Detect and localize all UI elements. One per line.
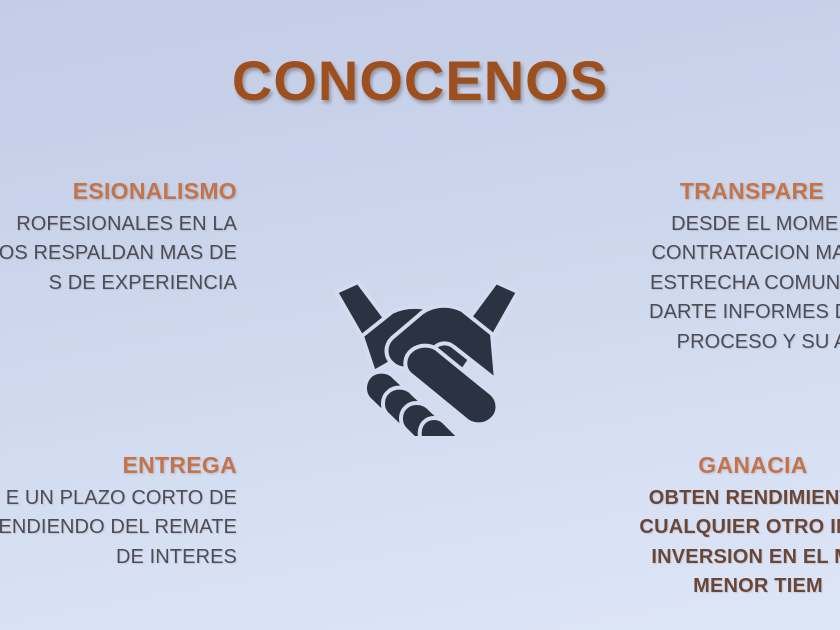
block-heading-transparency: TRANSPARE xyxy=(612,178,840,205)
block-heading-professionalism: ESIONALISMO xyxy=(0,178,237,205)
block-body-professionalism: ROFESIONALES EN LA OS RESPALDAN MAS DE S… xyxy=(0,211,237,296)
handshake-icon xyxy=(296,276,558,436)
body-line: INVERSION EN EL ME xyxy=(608,544,840,570)
body-line: ROFESIONALES EN LA xyxy=(0,211,237,237)
block-body-transparency: DESDE EL MOMEN CONTRATACION MANT ESTRECH… xyxy=(612,211,840,355)
block-body-delivery: E UN PLAZO CORTO DE ENDIENDO DEL REMATE … xyxy=(0,485,237,570)
body-line: CUALQUIER OTRO INST xyxy=(608,514,840,540)
slide-title: CONOCENOS xyxy=(0,48,840,113)
body-line: PROCESO Y SU A xyxy=(612,329,840,355)
text-block-professionalism: ESIONALISMO ROFESIONALES EN LA OS RESPAL… xyxy=(0,178,237,299)
body-line: MENOR TIEM xyxy=(608,573,840,599)
body-line: OS RESPALDAN MAS DE xyxy=(0,240,237,266)
body-line: DESDE EL MOMEN xyxy=(612,211,840,237)
presentation-slide: CONOCENOS ESIONALISMO ROFESIONALES EN LA… xyxy=(0,0,840,630)
block-heading-delivery: ENTREGA xyxy=(0,452,237,479)
text-block-delivery: ENTREGA E UN PLAZO CORTO DE ENDIENDO DEL… xyxy=(0,452,237,573)
body-line: DE INTERES xyxy=(0,544,237,570)
text-block-earnings: GANACIA OBTEN RENDIMIENTO CUALQUIER OTRO… xyxy=(608,452,840,603)
text-block-transparency: TRANSPARE DESDE EL MOMEN CONTRATACION MA… xyxy=(612,178,840,358)
body-line: OBTEN RENDIMIENTO xyxy=(608,485,840,511)
block-heading-earnings: GANACIA xyxy=(608,452,840,479)
body-line: CONTRATACION MANT xyxy=(612,240,840,266)
body-line: ESTRECHA COMUNICA xyxy=(612,270,840,296)
body-line: ENDIENDO DEL REMATE xyxy=(0,514,237,540)
body-line: S DE EXPERIENCIA xyxy=(0,270,237,296)
body-line: DARTE INFORMES DET xyxy=(612,299,840,325)
body-line: E UN PLAZO CORTO DE xyxy=(0,485,237,511)
block-body-earnings: OBTEN RENDIMIENTO CUALQUIER OTRO INST IN… xyxy=(608,485,840,600)
